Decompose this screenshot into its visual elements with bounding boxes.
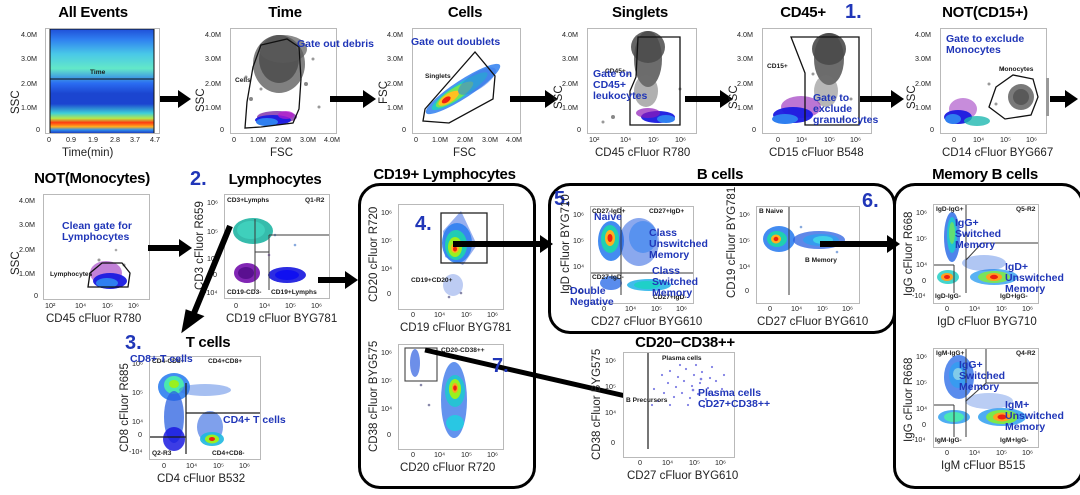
annotation-clean-gate: Clean gate for Lymphocytes — [62, 221, 132, 243]
y-tick: 1.0M — [19, 269, 35, 278]
x-tick: 10⁶ — [675, 135, 686, 144]
annotation-line: Memory — [959, 382, 1005, 393]
axis-label-y: IgD cFluor BYG710 — [560, 194, 572, 294]
y-tick: 10⁶ — [739, 210, 750, 219]
y-tick: 10⁶ — [207, 198, 218, 207]
x-tick: 4.0M — [324, 135, 340, 144]
x-tick: 10⁴ — [620, 135, 631, 144]
annotation-line: leukocytes — [593, 91, 647, 102]
annotation-double-negative: Double Negative — [570, 286, 614, 308]
gate-label-monocytes: Monocytes — [999, 66, 1033, 73]
panel-time: Time SSC 4.0M 3.0M 2.0M 1.0M 0 Cells 0 1… — [190, 4, 385, 164]
page-title: Lymphocytes — [210, 171, 340, 188]
x-tick: 10⁴ — [969, 304, 980, 313]
y-tick: 2.0M — [562, 79, 578, 88]
y-tick: 0 — [34, 291, 38, 300]
axis-label-x: CD4 cFluor B532 — [157, 473, 245, 485]
x-tick: 10⁵ — [213, 461, 224, 470]
y-tick: 10⁴ — [739, 262, 750, 271]
x-tick: 10⁵ — [285, 301, 296, 310]
y-tick: 10⁴ — [381, 264, 392, 273]
annotation-igg-switched-memory: IgG+ Switched Memory — [959, 360, 1005, 393]
y-tick: 0 — [387, 430, 391, 439]
page-title: Time — [210, 4, 360, 21]
y-tick: 10⁶ — [605, 356, 616, 365]
plot-area[interactable]: Time — [45, 28, 160, 134]
annotation-class-unswitched-memory: Class Unswitched Memory — [649, 228, 708, 261]
y-tick: 10⁴ — [916, 404, 927, 413]
y-tick: 1.0M — [205, 103, 221, 112]
y-tick: 10⁴ — [132, 417, 143, 426]
gate-label-cells: Cells — [235, 77, 251, 84]
y-tick: 10⁵ — [916, 378, 927, 387]
x-tick: 10⁴ — [434, 450, 445, 459]
annotation-plasma-cells: Plasma cells CD27+CD38++ — [698, 388, 770, 410]
x-tick: 4.7 — [150, 135, 160, 144]
y-tick: 3.0M — [737, 54, 753, 63]
x-tick: 1.0M — [250, 135, 266, 144]
step-number-2: 2. — [190, 168, 207, 191]
panel-singlets: Singlets SSC 4.0M 3.0M 2.0M 1.0M 0 CD45+… — [553, 4, 743, 164]
x-tick: 10⁶ — [842, 304, 853, 313]
panel-memory-b-igg-igm: IgG cFluor R668 10⁶ 10⁵ 10⁴ 0 -10⁴ IgM-I… — [897, 334, 1077, 484]
axis-label-y: IgG cFluor R668 — [903, 358, 915, 442]
x-tick: 10⁵ — [689, 458, 700, 467]
y-tick: 10⁴ — [605, 408, 616, 417]
gate-label-igm-pos-igg-neg: IgM+IgG- — [1000, 437, 1028, 444]
axis-label-x: CD14 cFluor BYG667 — [942, 147, 1053, 159]
x-tick: 10⁶ — [487, 450, 498, 459]
y-tick: -10⁴ — [129, 447, 142, 456]
y-tick: 4.0M — [205, 30, 221, 39]
gate-label-q5-r2: Q5-R2 — [1016, 206, 1035, 213]
annotation-gate-out-debris: Gate out debris — [297, 39, 374, 50]
x-tick: 3.7 — [130, 135, 140, 144]
x-tick: 10⁴ — [973, 135, 984, 144]
y-tick: 10⁵ — [132, 388, 143, 397]
y-tick: 10⁵ — [381, 376, 392, 385]
step-number-6: 6. — [862, 190, 879, 213]
axis-label-y: CD38 cFluor BYG575 — [368, 341, 380, 452]
annotation-line: Lymphocytes — [62, 232, 132, 243]
axis-label-x: IgD cFluor BYG710 — [937, 316, 1037, 328]
group-title-memory-b-cells: Memory B cells — [890, 166, 1080, 183]
y-tick: 10⁴ — [916, 260, 927, 269]
x-tick: 0 — [945, 448, 949, 457]
y-tick: 0 — [922, 276, 926, 285]
y-tick: 0 — [752, 125, 756, 134]
page-title: CD20−CD38++ — [605, 334, 765, 351]
gate-label-igd-neg-igg-pos: IgD-IgG+ — [936, 206, 964, 213]
gate-label-cd27-pos-igd-pos: CD27+IgD+ — [649, 208, 684, 215]
x-tick: 0 — [162, 461, 166, 470]
gate-label-plasma-cells: Plasma cells — [662, 355, 702, 362]
gate-label-singlets: Singlets — [425, 73, 451, 80]
panel-memory-b-igg-igd: IgG cFluor R668 10⁶ 10⁵ 10⁴ 0 -10⁴ IgD-I… — [897, 186, 1077, 336]
gate-label-q2-r3: Q2-R3 — [152, 450, 171, 457]
annotation-line: Memory — [955, 240, 1001, 251]
y-tick: 3.0M — [21, 54, 37, 63]
y-tick: 0 — [611, 438, 615, 447]
y-tick: 10⁴ — [573, 262, 584, 271]
y-tick: 4.0M — [562, 30, 578, 39]
x-tick: 0 — [411, 450, 415, 459]
step-number-1: 1. — [845, 1, 862, 24]
y-tick: 0 — [402, 125, 406, 134]
x-tick: 1.9 — [88, 135, 98, 144]
flow-arrow-diagonal — [175, 218, 265, 343]
x-tick: 0 — [638, 458, 642, 467]
y-tick: 1.0M — [915, 103, 931, 112]
x-tick: 10⁴ — [75, 301, 86, 310]
axis-label-x: CD19 cFluor BYG781 — [400, 322, 511, 334]
axis-label-x: CD27 cFluor BYG610 — [591, 316, 702, 328]
annotation-line: Memory — [649, 250, 708, 261]
axis-label-x: CD20 cFluor R720 — [400, 462, 495, 474]
y-tick: 4.0M — [19, 196, 35, 205]
x-tick: 2.0M — [275, 135, 291, 144]
y-tick: 1.0M — [737, 103, 753, 112]
step-number-7: 7. — [492, 355, 509, 378]
panel-cd20-cd38pp: CD20−CD38++ CD38 cFluor BYG575 10⁶ 10⁵ 1… — [585, 334, 785, 489]
y-tick: 0 — [930, 125, 934, 134]
y-tick: 10⁵ — [381, 236, 392, 245]
annotation-igg-switched-memory: IgG+ Switched Memory — [955, 218, 1001, 251]
x-tick: 0 — [414, 135, 418, 144]
gate-label-b-precursors: B Precursors — [626, 397, 667, 404]
x-tick: 10⁴ — [791, 304, 802, 313]
y-tick: 0 — [36, 125, 40, 134]
x-tick: 10⁶ — [239, 461, 250, 470]
step-number-3: 3. — [125, 332, 142, 355]
group-title-cd19-lymphocytes: CD19+ Lymphocytes — [352, 166, 537, 183]
gate-label-q4-r2: Q4-R2 — [1016, 350, 1035, 357]
gate-label-time: Time — [90, 69, 105, 76]
y-tick: 2.0M — [737, 79, 753, 88]
x-tick: 10⁶ — [487, 310, 498, 319]
y-tick: 0 — [745, 286, 749, 295]
x-tick: 10⁴ — [796, 135, 807, 144]
y-tick: 10⁵ — [605, 382, 616, 391]
axis-label-x: FSC — [270, 147, 293, 159]
axis-label-x: CD27 cFluor BYG610 — [627, 470, 738, 482]
annotation-line: Negative — [570, 297, 614, 308]
annotation-igd-unswitched-memory: IgD+ Unswitched Memory — [1005, 262, 1064, 295]
plot-area[interactable]: Lymphocytes — [43, 194, 150, 300]
gate-label-cd15-positive: CD15+ — [767, 63, 788, 70]
page-title: All Events — [18, 4, 168, 21]
annotation-line: Memory — [652, 288, 698, 299]
panel-cd19-lymphocytes-cd20: CD20 cFluor R720 10⁶ 10⁵ 10⁴ 0 4. CD19+C… — [362, 186, 527, 336]
axis-label-x: CD45 cFluor R780 — [46, 313, 141, 325]
y-tick: 3.0M — [915, 54, 931, 63]
annotation-igm-unswitched-memory: IgM+ Unswitched Memory — [1005, 400, 1064, 433]
x-tick: 10⁴ — [625, 304, 636, 313]
axis-label-x: FSC — [453, 147, 476, 159]
x-tick: 10⁶ — [128, 301, 139, 310]
x-tick: 0 — [952, 135, 956, 144]
step-number-4: 4. — [415, 213, 432, 236]
y-tick: 3.0M — [19, 220, 35, 229]
axis-label-y: CD38 cFluor BYG575 — [591, 349, 603, 460]
annotation-gate-out-doublets: Gate out doublets — [411, 37, 500, 48]
gate-label-cd3-lymphs: CD3+Lymphs — [227, 197, 269, 204]
y-tick: 0 — [922, 420, 926, 429]
gate-label-igm-neg-igg-pos: IgM-IgG+ — [936, 350, 964, 357]
x-tick: 10⁶ — [715, 458, 726, 467]
axis-label-x: CD45 cFluor R780 — [595, 147, 690, 159]
x-tick: 2.8 — [110, 135, 120, 144]
x-tick: 10⁴ — [662, 458, 673, 467]
x-tick: 10⁵ — [824, 135, 835, 144]
y-tick: 10⁵ — [739, 236, 750, 245]
y-tick: 2.0M — [21, 79, 37, 88]
x-tick: 10⁵ — [102, 301, 113, 310]
page-title: NOT(Monocytes) — [12, 170, 172, 187]
x-tick: 10⁵ — [1000, 135, 1011, 144]
y-tick: 0 — [387, 289, 391, 298]
panel-cd45-positive: CD45+ 1. SSC 4.0M 3.0M 2.0M 1.0M 0 CD15+… — [728, 4, 918, 164]
x-tick: 10⁵ — [461, 450, 472, 459]
x-tick: 10⁴ — [969, 448, 980, 457]
row-connector-line — [1046, 78, 1049, 116]
page-title: Singlets — [565, 4, 715, 21]
x-tick: 10⁶ — [676, 304, 687, 313]
gate-label-igd-neg-igg-neg: IgD-IgG- — [935, 293, 961, 300]
panel-t-cells: 3. T cells CD8 cFluor R685 10⁶ 10⁵ 10⁴ 0… — [113, 330, 323, 495]
axis-label-x: IgM cFluor B515 — [941, 460, 1025, 472]
y-tick: 0 — [220, 125, 224, 134]
x-tick: 0 — [768, 304, 772, 313]
x-tick: 0 — [232, 135, 236, 144]
annotation-line: Memory — [1005, 422, 1064, 433]
y-tick: 2.0M — [205, 79, 221, 88]
x-tick: 10⁵ — [817, 304, 828, 313]
y-tick: 10⁶ — [381, 208, 392, 217]
x-tick: 10⁵ — [996, 448, 1007, 457]
panel-b-cells-igd-cd27: 5. IgD cFluor BYG710 10⁶ 10⁵ 10⁴ 0 CD27-… — [552, 186, 722, 331]
annotation-line: granulocytes — [813, 115, 878, 126]
axis-label-x: CD15 cFluor B548 — [769, 147, 864, 159]
gate-label-q1-r2: Q1-R2 — [305, 197, 324, 204]
group-title-b-cells: B cells — [640, 166, 800, 183]
page-title: NOT(CD15+) — [910, 4, 1060, 21]
y-tick: 4.0M — [737, 30, 753, 39]
y-tick: 10⁶ — [916, 208, 927, 217]
page-title: T cells — [153, 334, 263, 351]
plot-area[interactable]: 4. CD19+CD20+ — [398, 204, 504, 310]
x-tick: 10⁵ — [461, 310, 472, 319]
x-tick: 10² — [45, 301, 55, 310]
y-tick: 4.0M — [387, 30, 403, 39]
x-tick: 10⁵ — [996, 304, 1007, 313]
y-tick: 2.0M — [387, 79, 403, 88]
y-tick: 1.0M — [562, 103, 578, 112]
x-tick: 10⁴ — [186, 461, 197, 470]
annotation-cd8-t-cells: CD8+ T cells — [130, 354, 193, 365]
x-tick: 2.0M — [457, 135, 473, 144]
axis-label-x: Time(min) — [62, 147, 113, 159]
y-tick: 10⁵ — [916, 234, 927, 243]
x-tick: 0 — [945, 304, 949, 313]
annotation-line: Memory — [1005, 284, 1064, 295]
plot-area[interactable]: B Naive B Memory — [756, 206, 860, 304]
axis-label-y: IgG cFluor R668 — [903, 212, 915, 296]
x-tick: 4.0M — [506, 135, 522, 144]
gate-label-cd4-pos-cd8-neg: CD4+CD8- — [212, 450, 244, 457]
x-tick: 10⁵ — [648, 135, 659, 144]
annotation-class-switched-memory: Class Switched Memory — [652, 266, 698, 299]
y-tick: 1.0M — [21, 103, 37, 112]
annotation-line: Monocytes — [946, 45, 1024, 56]
x-tick: 0 — [411, 310, 415, 319]
x-tick: 1.0M — [432, 135, 448, 144]
y-tick: 10⁶ — [381, 348, 392, 357]
plot-area[interactable]: CD4-CD8+ CD4+CD8+ Q2-R3 CD4+CD8- — [149, 356, 261, 460]
panel-cells: Cells FSC 4.0M 3.0M 2.0M 1.0M 0 Singlets… — [375, 4, 565, 164]
x-tick: 10⁵ — [651, 304, 662, 313]
y-tick: 0 — [138, 430, 142, 439]
y-tick: 3.0M — [387, 54, 403, 63]
panel-not-cd15: NOT(CD15+) SSC 4.0M 3.0M 2.0M 1.0M 0 Mon… — [900, 4, 1080, 164]
x-tick: 0 — [776, 135, 780, 144]
y-tick: 0 — [577, 125, 581, 134]
gate-label-cd4-cd8-dp: CD4+CD8+ — [208, 358, 242, 365]
gate-label-igm-neg-igg-neg: IgM-IgG- — [935, 437, 962, 444]
annotation-line: CD27+CD38++ — [698, 399, 770, 410]
annotation-gate-cd45: Gate on CD45+ leukocytes — [593, 69, 647, 102]
y-tick: 2.0M — [915, 79, 931, 88]
x-tick: 10² — [589, 135, 599, 144]
y-tick: -10⁴ — [912, 291, 925, 300]
gate-label-b-naive: B Naive — [759, 208, 783, 215]
y-tick: 1.0M — [387, 103, 403, 112]
gate-label-cd19-lymphs: CD19+Lymphs — [271, 289, 317, 296]
gate-label-b-memory: B Memory — [805, 257, 837, 264]
x-tick: 10⁴ — [434, 310, 445, 319]
y-tick: -10⁴ — [912, 435, 925, 444]
gate-label-lymphocytes: Lymphocytes — [50, 271, 92, 278]
annotation-cd4-t-cells: CD4+ T cells — [223, 415, 286, 426]
x-tick: 10⁶ — [850, 135, 861, 144]
gate-label-cd27-neg-igd-neg: CD27-IgD- — [592, 274, 624, 281]
x-tick: 10⁶ — [1022, 448, 1033, 457]
x-tick: 10⁶ — [1026, 135, 1037, 144]
x-tick: 3.0M — [300, 135, 316, 144]
page-title: Cells — [390, 4, 540, 21]
axis-label-x: CD27 cFluor BYG610 — [757, 316, 868, 328]
axis-label-y: CD8 cFluor R685 — [119, 363, 131, 452]
y-tick: 3.0M — [205, 54, 221, 63]
x-tick: 0 — [47, 135, 51, 144]
y-tick: 10⁶ — [573, 210, 584, 219]
panel-all-events: All Events SSC 4.0M 3.0M 2.0M 1.0M 0 — [0, 4, 185, 164]
y-tick: 10⁵ — [573, 236, 584, 245]
y-tick: 10⁶ — [916, 352, 927, 361]
gate-label-cd19-cd20: CD19+CD20+ — [411, 277, 452, 284]
x-tick: 0.9 — [66, 135, 76, 144]
x-tick: 10⁶ — [1022, 304, 1033, 313]
y-tick: 3.0M — [562, 54, 578, 63]
x-tick: 10⁶ — [311, 301, 322, 310]
axis-label-y: CD19 cFluor BYG781 — [726, 187, 738, 298]
x-tick: 3.0M — [482, 135, 498, 144]
annotation-naive: Naive — [594, 212, 620, 223]
y-tick: 4.0M — [21, 30, 37, 39]
y-tick: 4.0M — [915, 30, 931, 39]
y-tick: 10⁴ — [381, 404, 392, 413]
axis-label-y: CD20 cFluor R720 — [368, 207, 380, 302]
y-tick: 2.0M — [19, 245, 35, 254]
annotation-gate-monocytes: Gate to exclude Monocytes — [946, 34, 1024, 56]
